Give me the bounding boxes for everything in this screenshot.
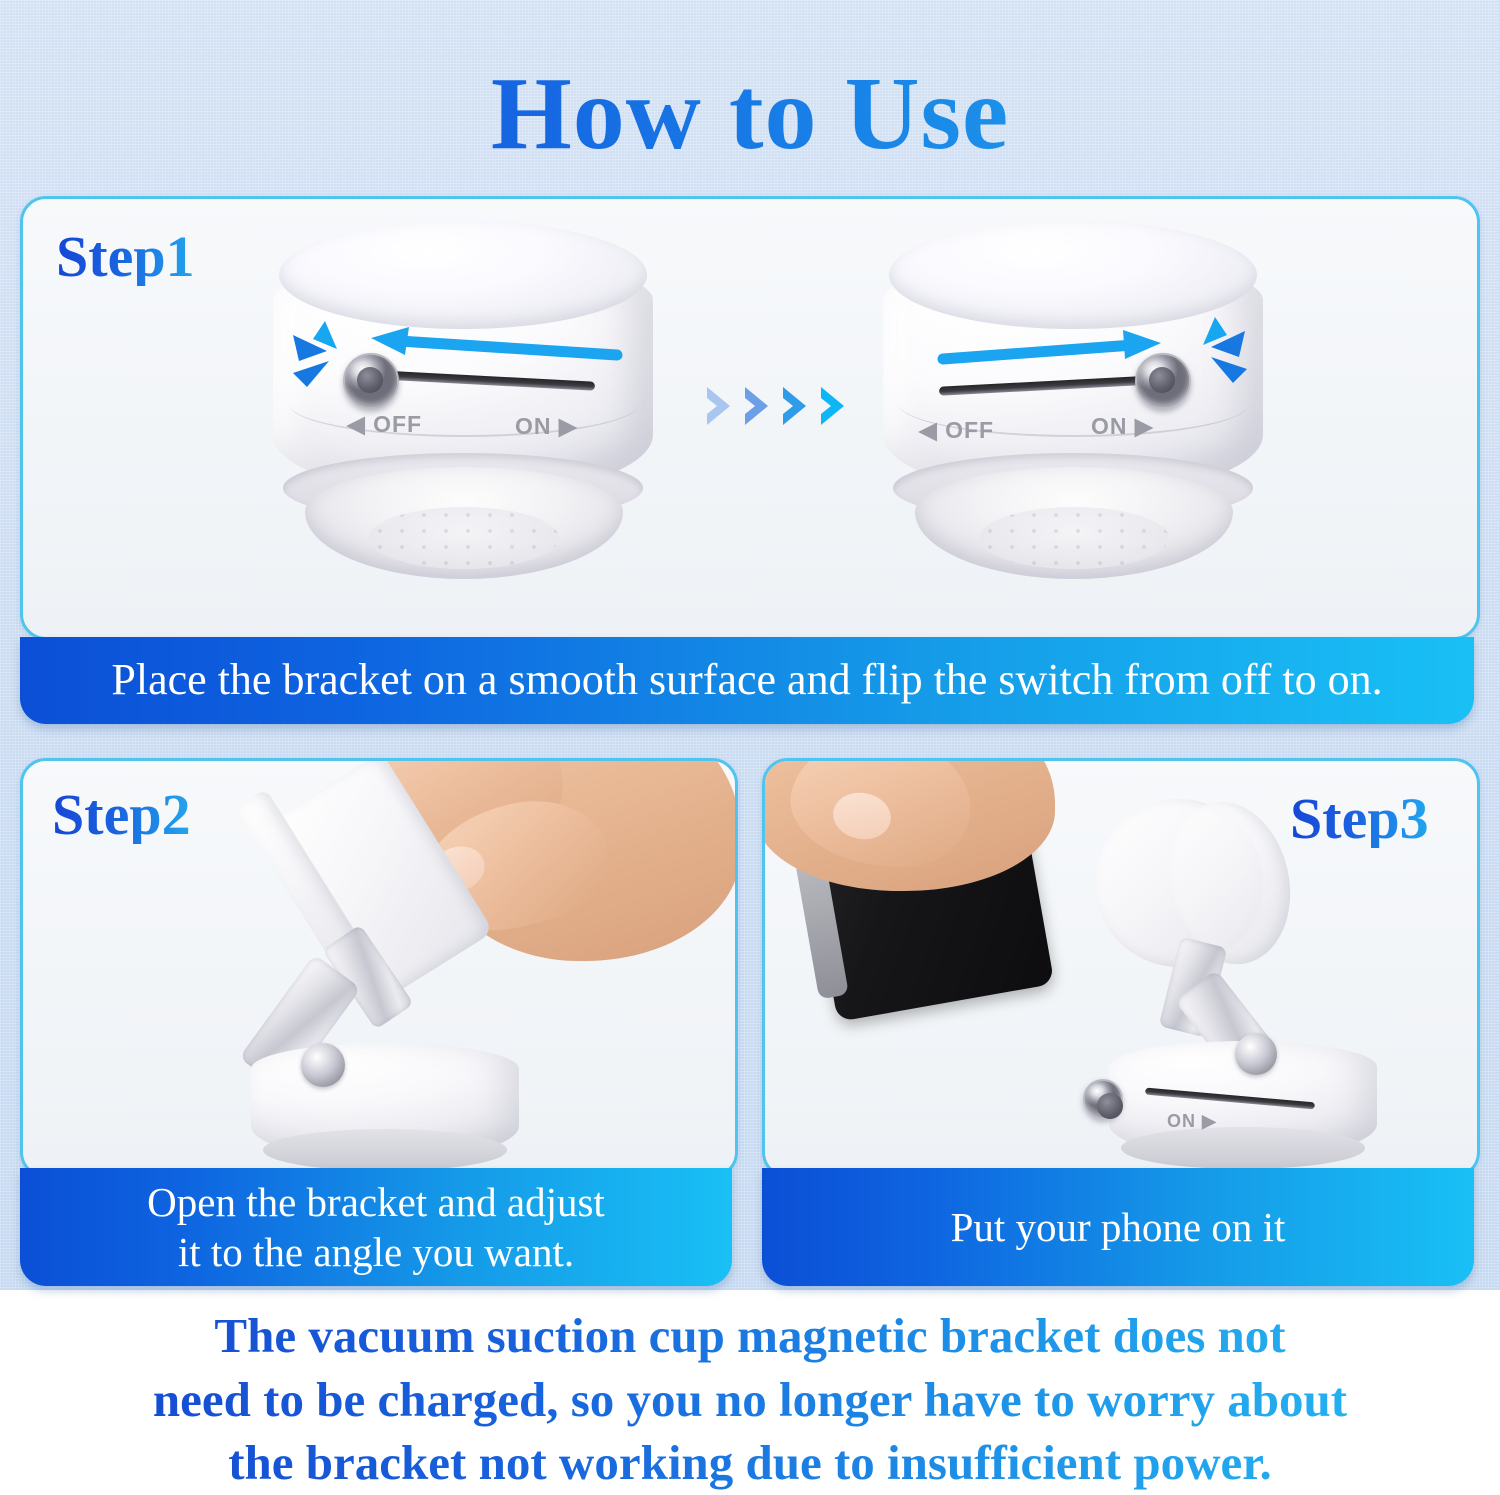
step2-caption-text: Open the bracket and adjust it to the an…	[133, 1177, 619, 1277]
switch-knob[interactable]	[1083, 1079, 1123, 1119]
step2-label: Step2	[52, 786, 191, 844]
caption-line: Open the bracket and adjust	[147, 1177, 605, 1227]
on-label-left: ON ▶	[515, 413, 578, 440]
switch-spark-icon	[283, 317, 369, 409]
step1-label: Step1	[56, 228, 195, 286]
suction-cup-texture	[979, 507, 1169, 569]
chevron-right-icon-3	[779, 384, 813, 428]
arrow-right-icon	[935, 329, 1165, 375]
step1-caption-text: Place the bracket on a smooth surface an…	[97, 657, 1396, 703]
step3-label: Step3	[1290, 790, 1429, 848]
footer-line-2: need to be charged, so you no longer hav…	[0, 1368, 1500, 1432]
hand-illustration	[762, 758, 1095, 951]
device-top-face	[279, 221, 647, 329]
step1-caption: Place the bracket on a smooth surface an…	[20, 637, 1474, 724]
on-label-right: ON ▶	[1091, 413, 1154, 440]
suction-cup-texture	[369, 507, 559, 569]
device-switch-off-illustration: ◀ OFF ON ▶	[273, 221, 653, 591]
on-label-base: ON ▶	[1167, 1111, 1217, 1132]
footer-line-3: the bracket not working due to insuffici…	[0, 1431, 1500, 1495]
hinge-screw	[1235, 1033, 1277, 1075]
footer-line-1: The vacuum suction cup magnetic bracket …	[0, 1304, 1500, 1368]
step3-caption: Put your phone on it	[762, 1168, 1474, 1286]
switch-spark-icon	[1169, 313, 1259, 405]
bracket-base-rim	[263, 1129, 507, 1171]
off-label-left: ◀ OFF	[347, 411, 422, 438]
step1-panel: ◀ OFF ON ▶	[20, 196, 1480, 640]
footer-note: The vacuum suction cup magnetic bracket …	[0, 1304, 1500, 1495]
step2-caption: Open the bracket and adjust it to the an…	[20, 1168, 732, 1286]
caption-line: Place the bracket on a smooth surface an…	[111, 657, 1382, 703]
transition-chevrons	[703, 384, 851, 428]
caption-line: it to the angle you want.	[147, 1227, 605, 1277]
device-switch-on-illustration: ◀ OFF ON ▶	[883, 221, 1263, 591]
hinge-screw	[301, 1043, 345, 1087]
step3-caption-text: Put your phone on it	[937, 1202, 1300, 1252]
chevron-right-icon-2	[741, 384, 775, 428]
page-title: How to Use	[0, 62, 1500, 166]
arrow-left-icon	[365, 325, 625, 371]
off-label-right: ◀ OFF	[919, 417, 994, 444]
caption-line: Put your phone on it	[951, 1202, 1286, 1252]
chevron-right-icon-4	[817, 384, 851, 428]
bracket-base-rim	[1121, 1127, 1365, 1169]
chevron-right-icon-1	[703, 384, 737, 428]
